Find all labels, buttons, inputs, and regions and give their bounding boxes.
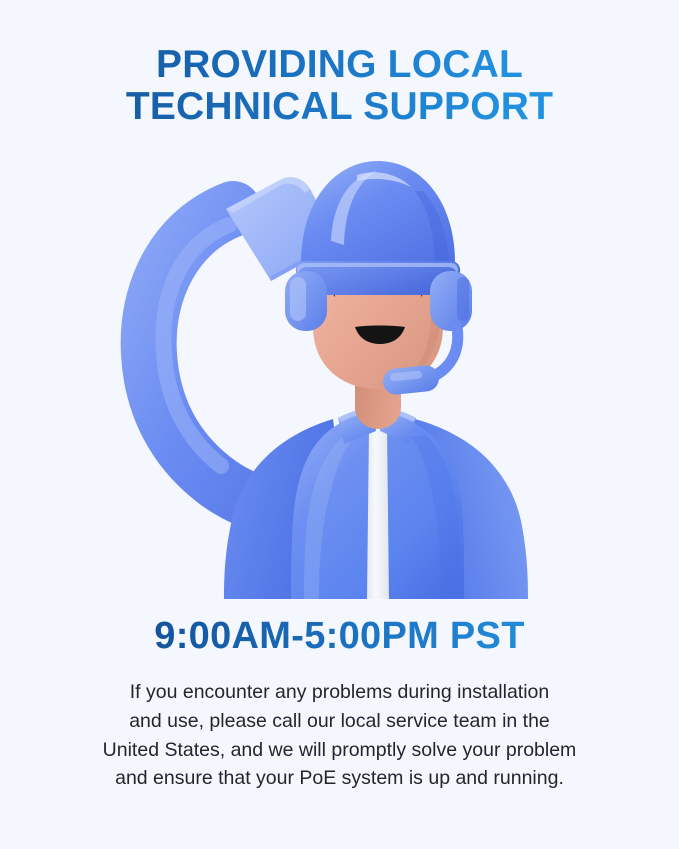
support-description-line-3: United States, and we will promptly solv… xyxy=(50,736,630,765)
page-title-line-1: PROVIDING LOCAL xyxy=(0,44,679,86)
support-description: If you encounter any problems during ins… xyxy=(50,678,630,793)
support-hours: 9:00AM-5:00PM PST xyxy=(0,615,679,658)
cap-icon xyxy=(295,161,459,295)
page-title: PROVIDING LOCAL TECHNICAL SUPPORT xyxy=(0,44,679,127)
headset-earcup-right xyxy=(430,271,472,331)
headset-earcup-left xyxy=(285,271,327,331)
support-info-poster: PROVIDING LOCAL TECHNICAL SUPPORT xyxy=(0,0,679,849)
page-title-line-2: TECHNICAL SUPPORT xyxy=(0,86,679,128)
support-description-line-1: If you encounter any problems during ins… xyxy=(50,678,630,707)
agent-torso xyxy=(224,408,528,599)
support-agent-illustration xyxy=(105,139,575,599)
support-description-line-4: and ensure that your PoE system is up an… xyxy=(50,764,630,793)
support-description-line-2: and use, please call our local service t… xyxy=(50,707,630,736)
